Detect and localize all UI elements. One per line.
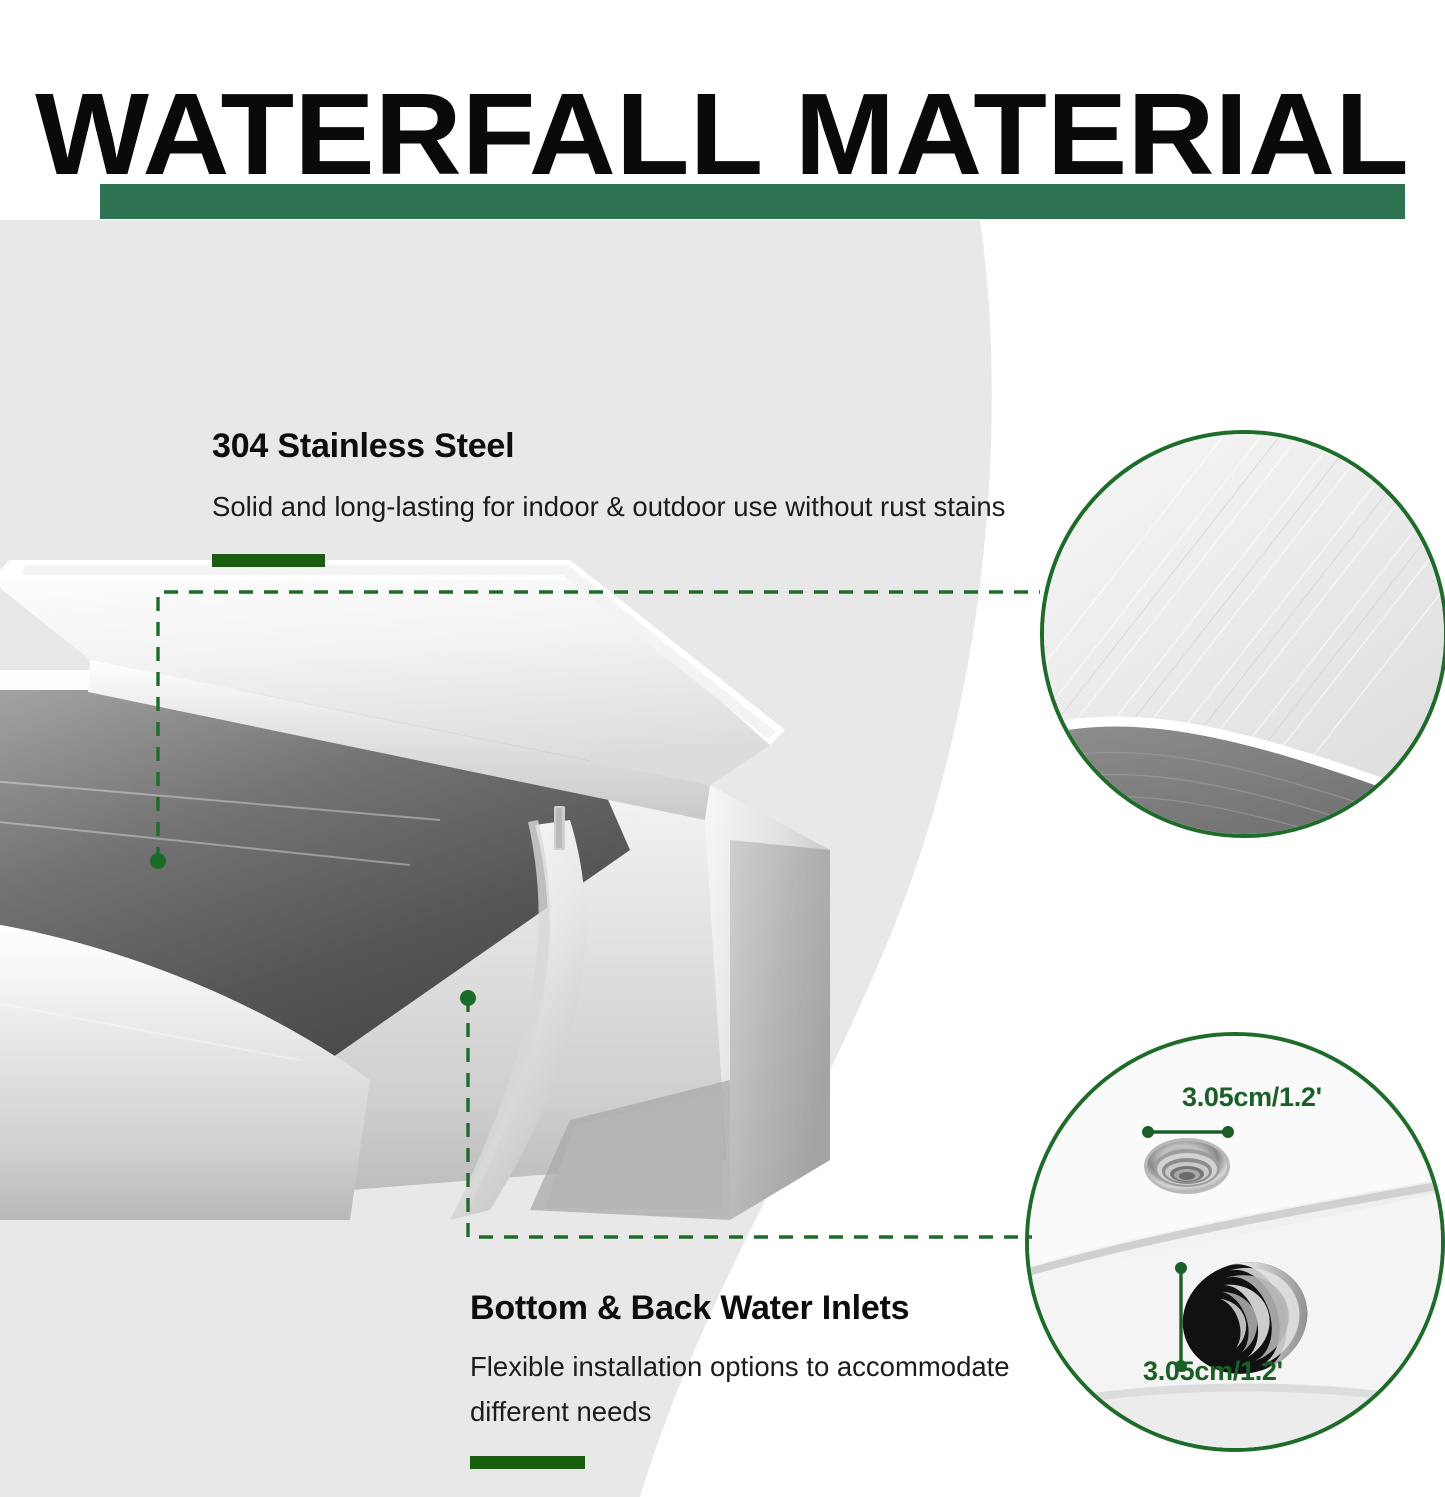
feature-heading: Bottom & Back Water Inlets [470,1290,1030,1327]
product-image-waterfall-spillway [0,520,870,1220]
measurement-label-bottom-inlet: 3.05cm/1.2' [1143,1356,1283,1387]
inlet-hole-top [1144,1138,1230,1194]
feature-accent-rule [212,554,325,567]
feature-block-stainless-steel: 304 Stainless Steel Solid and long-lasti… [212,428,1005,567]
feature-body: Flexible installation options to accommo… [470,1345,1030,1434]
svg-text:WATERFALL MATERIAL: WATERFALL MATERIAL [35,74,1409,199]
feature-heading: 304 Stainless Steel [212,428,1005,465]
detail-circle-brushed-steel [1040,430,1445,838]
feature-block-water-inlets: Bottom & Back Water Inlets Flexible inst… [470,1290,1030,1469]
page-title: WATERFALL MATERIAL WATERFALL MATERIAL [0,74,1445,204]
feature-accent-rule [470,1456,585,1469]
feature-body-line1: Flexible installation options to accommo… [470,1345,1030,1390]
feature-body-line2: different needs [470,1390,1030,1435]
measurement-label-top-inlet: 3.05cm/1.2' [1182,1082,1322,1113]
feature-body: Solid and long-lasting for indoor & outd… [212,485,1005,530]
infographic-canvas: WATERFALL MATERIAL WATERFALL MATERIAL [0,0,1445,1497]
